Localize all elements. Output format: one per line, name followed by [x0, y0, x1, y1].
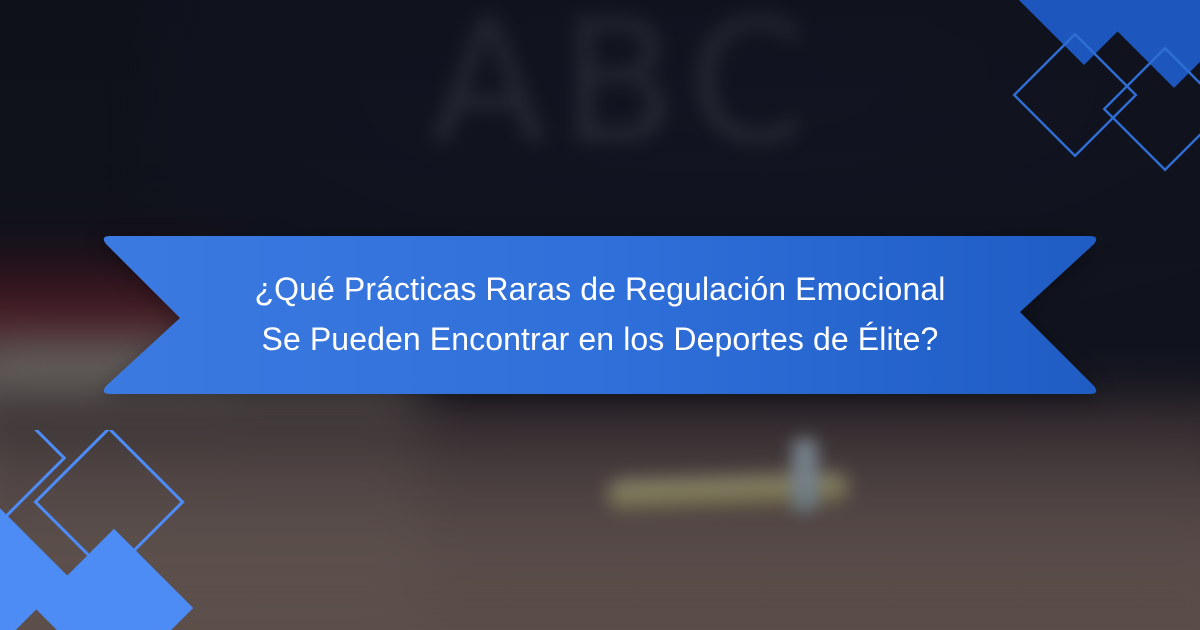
banner-title-line-1: ¿Qué Prácticas Raras de Regulación Emoci… [255, 265, 946, 315]
share-card-canvas: ABC [0, 0, 1200, 630]
banner-title: ¿Qué Prácticas Raras de Regulación Emoci… [100, 226, 1100, 404]
banner-title-line-2: Se Pueden Encontrar en los Deportes de É… [262, 315, 939, 365]
